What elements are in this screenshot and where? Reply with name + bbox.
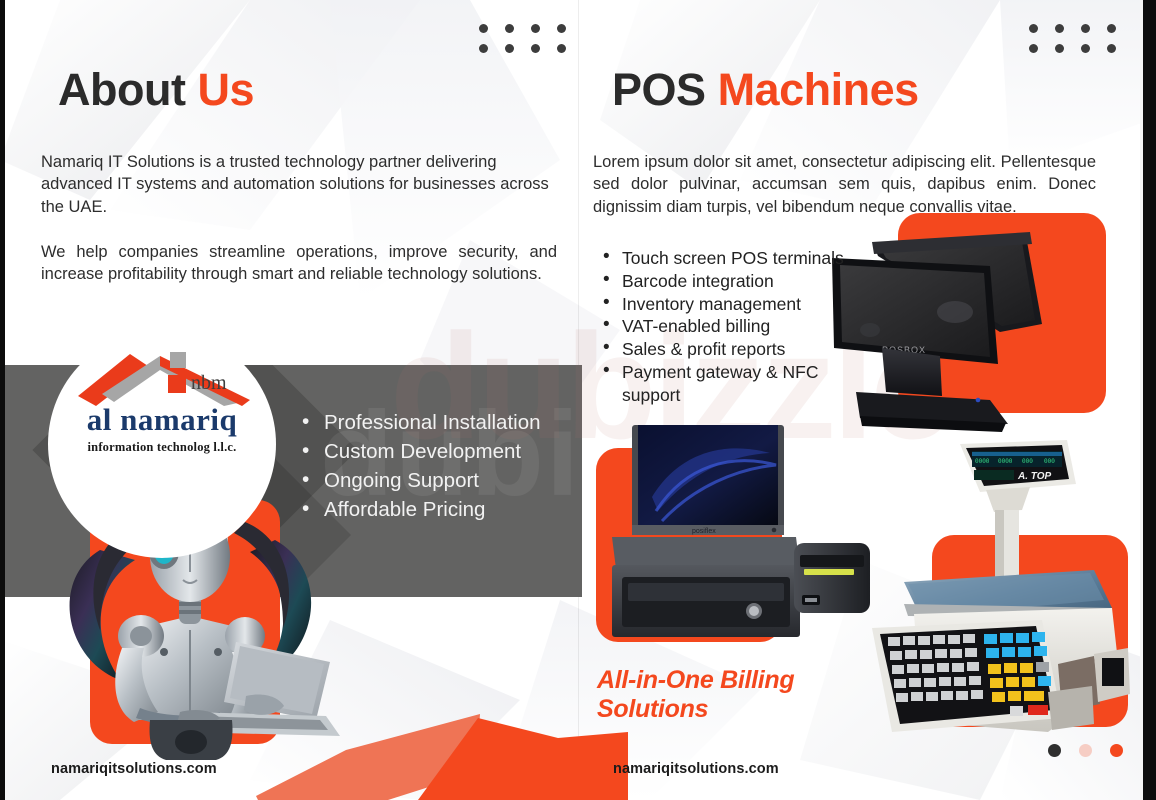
pager-dot-3[interactable] — [1110, 744, 1123, 757]
dot-grid-decor-right — [1029, 24, 1116, 53]
logo-nbm-mark: nbm — [168, 372, 227, 395]
list-item: Professional Installation — [300, 408, 541, 437]
list-item: Payment gateway & NFC support — [600, 361, 850, 407]
list-item: VAT-enabled billing — [600, 315, 850, 338]
dot — [505, 44, 514, 53]
list-item: Custom Development — [300, 437, 541, 466]
heading-accent-text: Us — [197, 64, 254, 115]
svg-text:000: 000 — [1022, 458, 1033, 465]
list-item: Inventory management — [600, 293, 850, 316]
weighing-scale-image: 00000000 000000 A. TOP — [862, 432, 1152, 747]
svg-text:000: 000 — [1044, 458, 1055, 465]
brochure-page: dubizzle About Us Namariq IT Solutions i… — [0, 0, 1156, 800]
svg-text:posiflex: posiflex — [692, 528, 716, 535]
list-item: Sales & profit reports — [600, 338, 850, 361]
right-website-url[interactable]: namariqitsolutions.com — [613, 761, 779, 777]
pos-paragraph-1: Lorem ipsum dolor sit amet, consectetur … — [593, 151, 1096, 219]
pos-feature-list: Touch screen POS terminals Barcode integ… — [600, 247, 850, 407]
about-paragraph-2: We help companies streamline operations,… — [41, 241, 557, 286]
logo-nbm-text: nbm — [191, 372, 227, 395]
dot — [1055, 24, 1064, 33]
logo-company-tagline: information technolog l.l.c. — [88, 440, 237, 455]
list-item: Ongoing Support — [300, 466, 541, 495]
dot-grid-decor-left — [479, 24, 566, 53]
heading-accent-text: Machines — [718, 64, 919, 115]
about-us-heading: About Us — [58, 64, 254, 116]
about-paragraph-1: Namariq IT Solutions is a trusted techno… — [41, 151, 557, 219]
heading-main-text: About — [58, 64, 185, 115]
carousel-pager[interactable] — [1048, 744, 1123, 757]
logo-square-gray — [170, 352, 186, 368]
logo-company-name: al namariq — [87, 402, 238, 438]
dot — [1107, 44, 1116, 53]
list-item: Touch screen POS terminals — [600, 247, 850, 270]
logo-roof-mark: nbm — [72, 348, 252, 406]
pager-dot-1[interactable] — [1048, 744, 1061, 757]
svg-text:0000: 0000 — [975, 458, 990, 465]
dot — [1107, 24, 1116, 33]
company-logo: nbm al namariq information technolog l.l… — [48, 330, 276, 558]
svg-text:0000: 0000 — [998, 458, 1013, 465]
left-feature-list: Professional Installation Custom Develop… — [300, 408, 541, 524]
dot — [531, 24, 540, 33]
heading-main-text: POS — [612, 64, 706, 115]
dot — [1029, 44, 1038, 53]
dot — [1055, 44, 1064, 53]
dot — [1081, 24, 1090, 33]
dot — [557, 24, 566, 33]
dot — [505, 24, 514, 33]
dot — [479, 44, 488, 53]
pos-machines-heading: POS Machines — [612, 64, 919, 116]
frame-border-left — [0, 0, 5, 800]
dot — [557, 44, 566, 53]
dot — [1081, 44, 1090, 53]
billing-tagline: All-in-One Billing Solutions — [597, 666, 837, 724]
svg-text:A. TOP: A. TOP — [1017, 471, 1051, 482]
frame-border-right — [1143, 0, 1156, 800]
pos-terminal-image: POSBOX — [830, 220, 1125, 435]
cash-drawer-monitor-image: posiflex — [594, 425, 879, 650]
left-website-url[interactable]: namariqitsolutions.com — [51, 761, 217, 777]
list-item: Barcode integration — [600, 270, 850, 293]
dot — [479, 24, 488, 33]
dot — [1029, 24, 1038, 33]
pager-dot-2[interactable] — [1079, 744, 1092, 757]
list-item: Affordable Pricing — [300, 495, 541, 524]
logo-square-orange — [168, 375, 186, 393]
dot — [531, 44, 540, 53]
